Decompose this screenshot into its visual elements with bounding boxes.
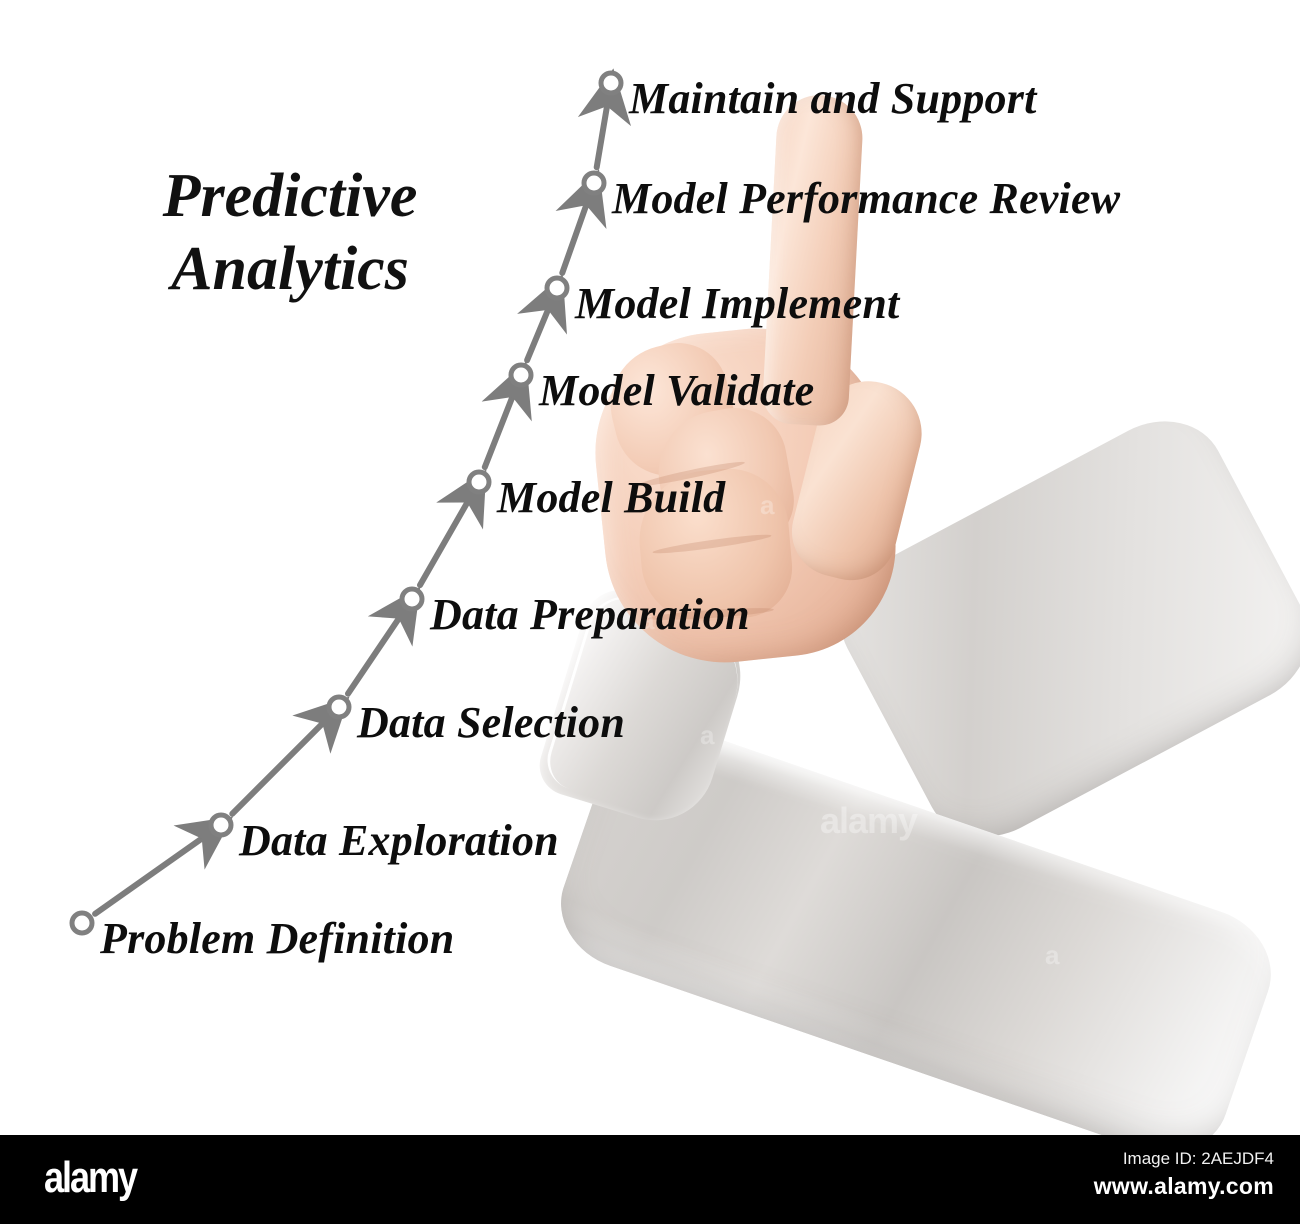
step-marker-7 — [584, 173, 604, 193]
step-label-2: Data Selection — [357, 697, 625, 748]
step-label-5: Model Validate — [539, 365, 814, 416]
alamy-url-text[interactable]: www.alamy.com — [1094, 1173, 1274, 1200]
step-label-3: Data Preparation — [430, 589, 750, 640]
step-label-4: Model Build — [497, 472, 725, 523]
step-marker-4 — [469, 472, 489, 492]
step-label-6: Model Implement — [575, 278, 899, 329]
title-line-1: Predictive — [100, 160, 480, 233]
step-marker-0 — [72, 913, 92, 933]
step-label-8: Maintain and Support — [629, 73, 1037, 124]
page-title: Predictive Analytics — [100, 160, 480, 306]
alamy-logo: alamy — [44, 1153, 136, 1203]
step-label-0: Problem Definition — [100, 913, 454, 964]
alamy-footer-bar: alamy Image ID: 2AEJDF4 www.alamy.com — [0, 1135, 1300, 1224]
step-marker-3 — [402, 589, 422, 609]
step-label-7: Model Performance Review — [612, 173, 1120, 224]
step-marker-5 — [511, 365, 531, 385]
step-marker-6 — [547, 278, 567, 298]
step-marker-8 — [601, 73, 621, 93]
process-diagram: Predictive Analytics Problem DefinitionD… — [0, 0, 1300, 1135]
step-marker-2 — [329, 697, 349, 717]
image-canvas: a alamy a alamy a a a a alamy Predictive… — [0, 0, 1300, 1224]
image-id-text: Image ID: 2AEJDF4 — [1123, 1149, 1274, 1169]
title-line-2: Analytics — [100, 233, 480, 306]
step-label-1: Data Exploration — [239, 815, 559, 866]
step-marker-1 — [211, 815, 231, 835]
